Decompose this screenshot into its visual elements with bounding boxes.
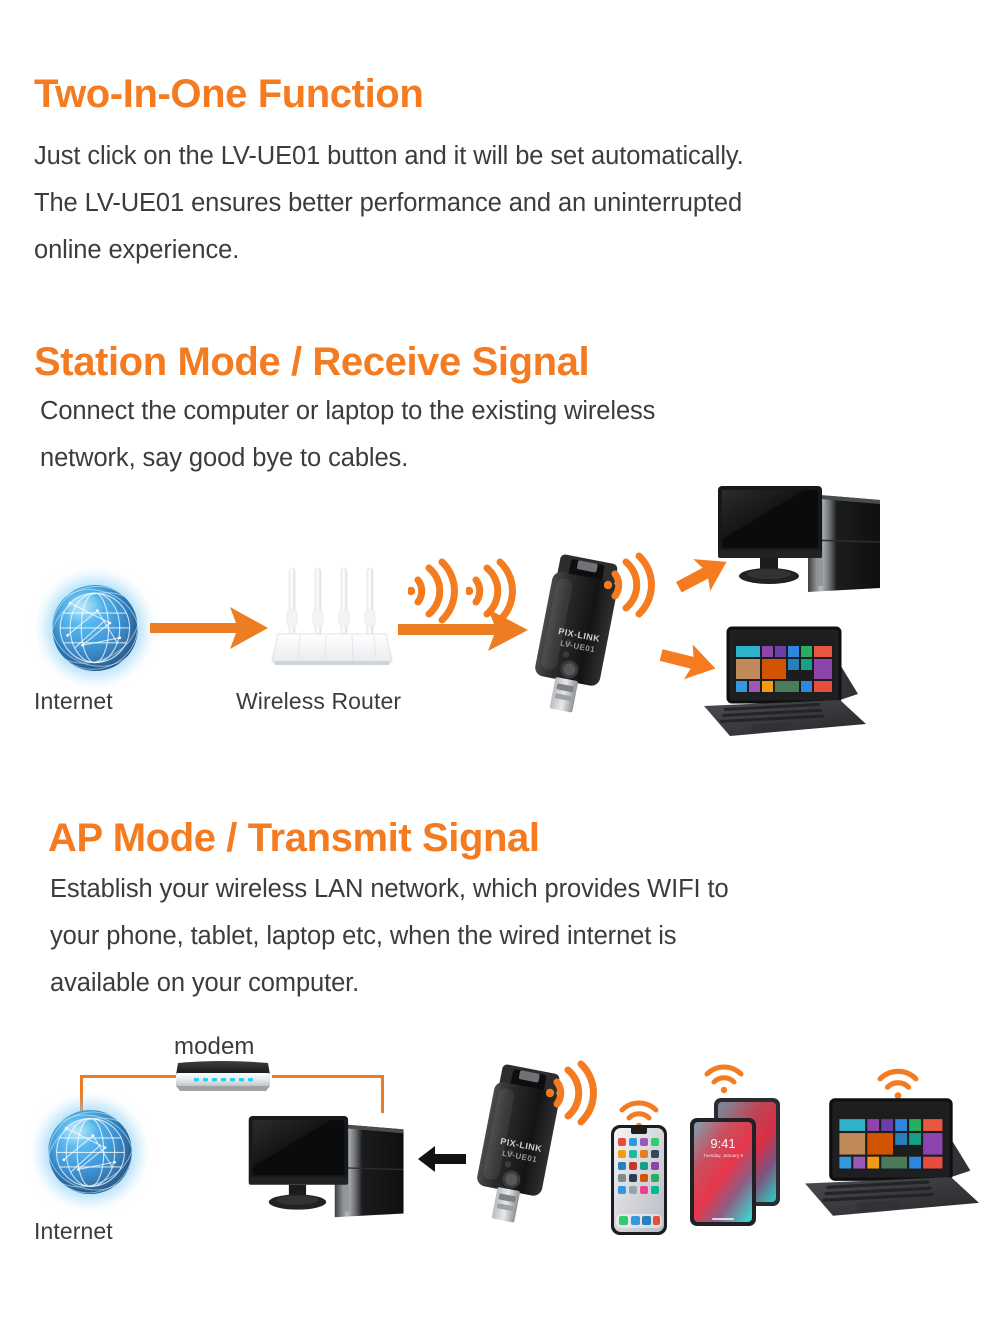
connection-line-left-horizontal: [80, 1075, 176, 1078]
globe-icon: [52, 585, 138, 671]
wifi-signal-icon: [466, 558, 528, 624]
body-line: your phone, tablet, laptop etc, when the…: [50, 913, 1000, 960]
ipad-clock: 9:41: [710, 1136, 735, 1151]
desktop-computer-icon: [243, 1110, 415, 1230]
body-line: network, say good bye to cables.: [40, 435, 990, 482]
body-line: online experience.: [34, 227, 984, 274]
label-wireless-router: Wireless Router: [236, 688, 401, 715]
surface-tablet-icon: [690, 620, 880, 750]
connection-line-right-horizontal: [272, 1075, 384, 1078]
surface-tablet-icon: [790, 1090, 994, 1232]
body-station-mode: Connect the computer or laptop to the ex…: [40, 388, 990, 482]
body-line: Connect the computer or laptop to the ex…: [40, 388, 990, 435]
body-line: Just click on the LV-UE01 button and it …: [34, 133, 984, 180]
label-internet-ap: Internet: [34, 1218, 113, 1245]
globe-mesh: [30, 1092, 151, 1213]
label-internet-station: Internet: [34, 688, 113, 715]
iphone-icon: [610, 1124, 668, 1236]
globe-icon: [48, 1110, 132, 1194]
body-line: The LV-UE01 ensures better performance a…: [34, 180, 984, 227]
body-line: Establish your wireless LAN network, whi…: [50, 866, 1000, 913]
arrow-right-icon: [150, 605, 270, 651]
wifi-signal-icon: [408, 558, 470, 624]
heading-two-in-one: Two-In-One Function: [34, 74, 423, 114]
wifi-signal-icon: [604, 550, 666, 620]
body-ap-mode: Establish your wireless LAN network, whi…: [50, 866, 1000, 1007]
body-two-in-one: Just click on the LV-UE01 button and it …: [34, 133, 984, 274]
wireless-router-icon: [268, 562, 396, 670]
desktop-computer-icon: [712, 480, 892, 605]
arrow-left-black-icon: [418, 1145, 466, 1173]
label-modem: modem: [174, 1033, 255, 1061]
body-line: available on your computer.: [50, 960, 1000, 1007]
wifi-signal-icon: [703, 1062, 745, 1094]
heading-ap-mode: AP Mode / Transmit Signal: [48, 818, 540, 858]
modem-icon: [172, 1059, 274, 1095]
heading-station-mode: Station Mode / Receive Signal: [34, 342, 589, 382]
wifi-signal-icon: [546, 1058, 608, 1128]
globe-mesh: [33, 566, 157, 690]
ipad-date: Tuesday, January 9: [703, 1153, 743, 1158]
ipad-icon: 9:41 Tuesday, January 9: [688, 1092, 784, 1232]
connection-line-right-vertical: [381, 1075, 384, 1113]
